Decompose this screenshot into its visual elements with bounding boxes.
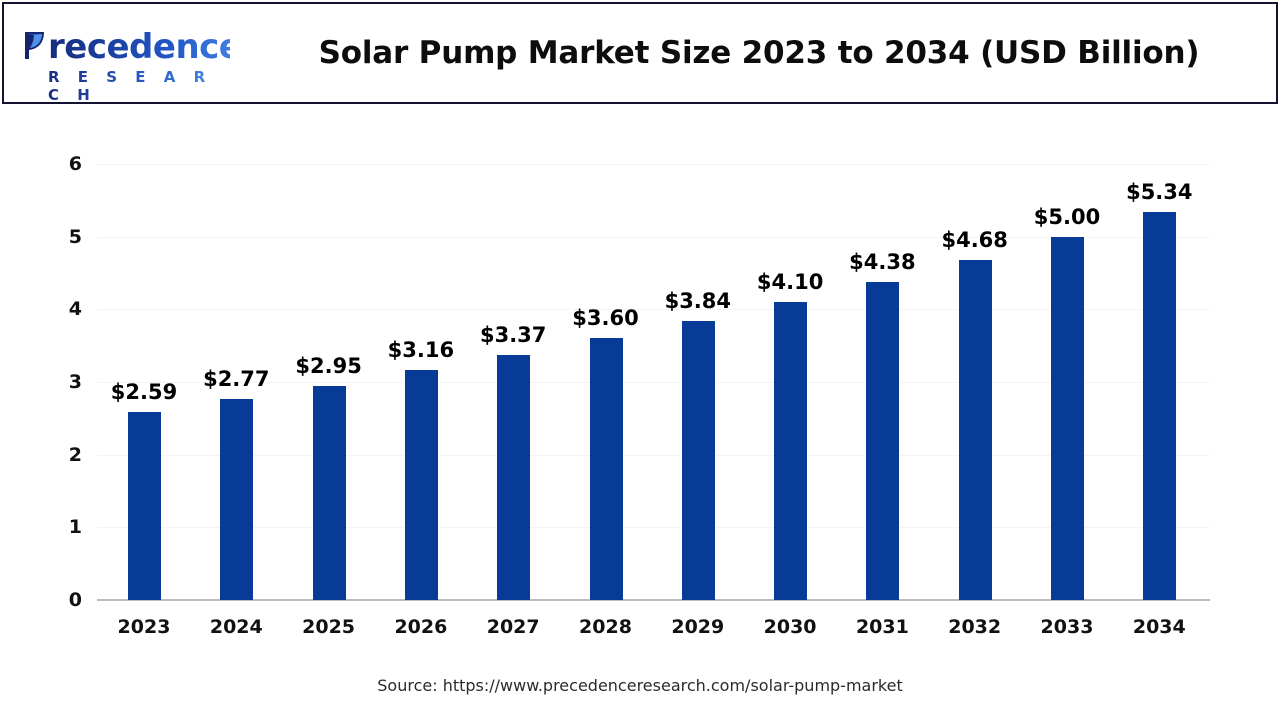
chart-plot-area: 0123456$2.592023$2.772024$2.952025$3.162… xyxy=(0,104,1280,720)
bar[interactable] xyxy=(866,282,899,600)
bar-group[interactable]: $4.102030 xyxy=(744,104,836,720)
chart-title: Solar Pump Market Size 2023 to 2034 (USD… xyxy=(254,4,1264,102)
bar-value-label: $5.34 xyxy=(1113,180,1205,204)
infographic-canvas: recedence R E S E A R C H Solar Pump Mar… xyxy=(0,0,1280,720)
bar[interactable] xyxy=(405,370,438,600)
bar-value-label: $5.00 xyxy=(1021,205,1113,229)
y-axis-tick-label: 4 xyxy=(40,298,82,320)
bar-value-label: $2.77 xyxy=(190,367,282,391)
x-axis-category-label: 2032 xyxy=(929,616,1021,638)
x-axis-category-label: 2027 xyxy=(467,616,559,638)
x-axis-category-label: 2025 xyxy=(283,616,375,638)
x-axis-category-label: 2024 xyxy=(190,616,282,638)
bar-group[interactable]: $2.772024 xyxy=(190,104,282,720)
bar-value-label: $3.37 xyxy=(467,323,559,347)
bar-value-label: $4.10 xyxy=(744,270,836,294)
bar[interactable] xyxy=(128,412,161,600)
bar[interactable] xyxy=(774,302,807,600)
bar-group[interactable]: $2.592023 xyxy=(98,104,190,720)
y-axis-tick-label: 6 xyxy=(40,153,82,175)
bar-value-label: $4.38 xyxy=(836,250,928,274)
bar-group[interactable]: $3.162026 xyxy=(375,104,467,720)
leaf-pennant-icon xyxy=(22,30,48,60)
bar-group[interactable]: $5.002033 xyxy=(1021,104,1113,720)
bar-value-label: $4.68 xyxy=(929,228,1021,252)
header-band: recedence R E S E A R C H Solar Pump Mar… xyxy=(2,2,1278,104)
y-axis-tick-label: 5 xyxy=(40,226,82,248)
bars-and-labels: 0123456$2.592023$2.772024$2.952025$3.162… xyxy=(0,104,1280,720)
source-note: Source: https://www.precedenceresearch.c… xyxy=(0,676,1280,695)
x-axis-category-label: 2030 xyxy=(744,616,836,638)
x-axis-category-label: 2029 xyxy=(652,616,744,638)
precedence-research-logo: recedence R E S E A R C H xyxy=(20,28,230,90)
x-axis-category-label: 2028 xyxy=(560,616,652,638)
bar[interactable] xyxy=(313,386,346,600)
x-axis-category-label: 2034 xyxy=(1113,616,1205,638)
bar-group[interactable]: $3.842029 xyxy=(652,104,744,720)
bar-value-label: $3.84 xyxy=(652,289,744,313)
bar-group[interactable]: $3.602028 xyxy=(560,104,652,720)
bar-group[interactable]: $5.342034 xyxy=(1113,104,1205,720)
bar-group[interactable]: $2.952025 xyxy=(283,104,375,720)
bar-value-label: $3.60 xyxy=(560,306,652,330)
bar-group[interactable]: $4.682032 xyxy=(929,104,1021,720)
y-axis-tick-label: 0 xyxy=(40,589,82,611)
y-axis-tick-label: 2 xyxy=(40,444,82,466)
y-axis-tick-label: 3 xyxy=(40,371,82,393)
logo-secondary-text: R E S E A R C H xyxy=(20,68,230,104)
bar-value-label: $2.95 xyxy=(283,354,375,378)
bar[interactable] xyxy=(1143,212,1176,600)
x-axis-category-label: 2023 xyxy=(98,616,190,638)
bar[interactable] xyxy=(497,355,530,600)
bar[interactable] xyxy=(590,338,623,600)
bar[interactable] xyxy=(1051,237,1084,600)
bar[interactable] xyxy=(220,399,253,600)
x-axis-category-label: 2026 xyxy=(375,616,467,638)
x-axis-category-label: 2033 xyxy=(1021,616,1113,638)
bar[interactable] xyxy=(959,260,992,600)
logo-primary-text: recedence xyxy=(48,27,241,67)
y-axis-tick-label: 1 xyxy=(40,516,82,538)
logo-wordmark: recedence xyxy=(20,28,230,66)
x-axis-category-label: 2031 xyxy=(836,616,928,638)
bar-group[interactable]: $3.372027 xyxy=(467,104,559,720)
bar-group[interactable]: $4.382031 xyxy=(836,104,928,720)
bar-value-label: $2.59 xyxy=(98,380,190,404)
bar-value-label: $3.16 xyxy=(375,338,467,362)
bar[interactable] xyxy=(682,321,715,600)
